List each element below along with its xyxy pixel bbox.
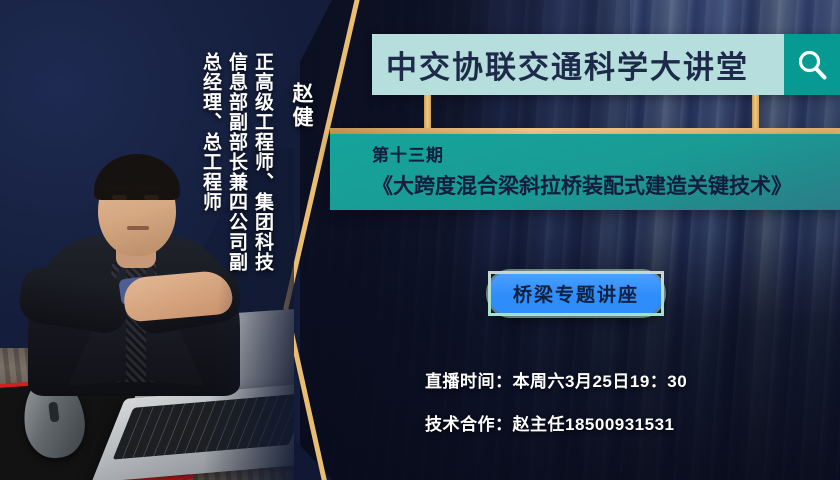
- header-banner: 中交协联交通科学大讲堂: [372, 34, 840, 95]
- lecture-title: 《大跨度混合梁斜拉桥装配式建造关键技术》: [372, 170, 826, 200]
- program-title: 中交协联交通科学大讲堂: [372, 34, 784, 95]
- contact-info: 技术合作：赵主任18500931531: [425, 410, 675, 435]
- speaker-credential-line-1: 正高级工程师、集团科技: [249, 52, 276, 272]
- speaker-name: 赵健: [286, 82, 316, 130]
- speaker-credential-line-3: 总经理、总工程师: [197, 52, 224, 212]
- broadcast-time: 直播时间：本周六3月25日19：30: [425, 367, 687, 392]
- topic-badge: 桥梁专题讲座: [488, 271, 664, 316]
- issue-number: 第十三期: [372, 141, 826, 166]
- webinar-poster: 赵健 正高级工程师、集团科技 信息部副部长兼四公司副 总经理、总工程师 中交协联…: [0, 0, 840, 480]
- speaker-credential-line-2: 信息部副部长兼四公司副: [223, 52, 250, 272]
- search-icon[interactable]: [784, 34, 840, 95]
- subtitle-panel: 第十三期 《大跨度混合梁斜拉桥装配式建造关键技术》: [330, 134, 840, 210]
